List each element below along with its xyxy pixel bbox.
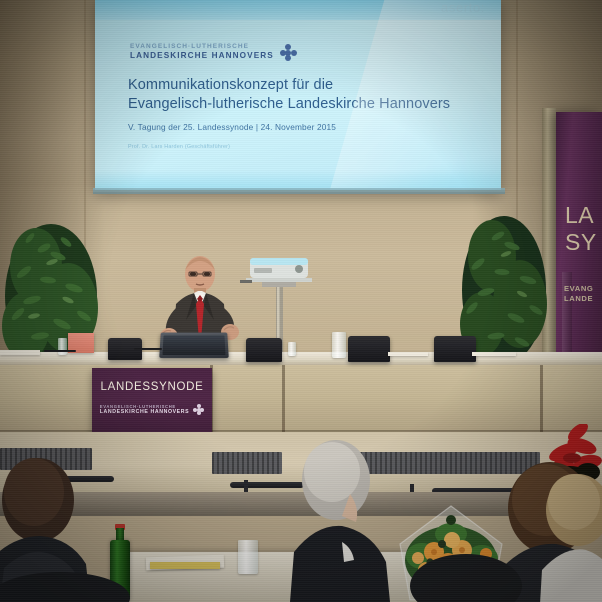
conference-photo-scene: aserto: EVANGELISCH·LUTHERISCHE LANDESKI… [0, 0, 602, 602]
table-microphone-center [134, 348, 162, 350]
papers-far-right [472, 352, 516, 356]
front-water-glass [238, 540, 258, 574]
audience-person-grey-hair [288, 436, 398, 602]
table-microphone-left [44, 350, 76, 352]
slide-logo-line2: LANDESKIRCHE HANNOVERS [130, 52, 274, 60]
banner-title: LA SY [565, 202, 597, 256]
podium-sign: LANDESSYNODE EVANGELISCH·LUTHERISCHE LAN… [92, 368, 212, 440]
banner-sub-line2: LANDE [564, 294, 593, 304]
slide-subtitle: V. Tagung der 25. Landessynode | 24. Nov… [128, 122, 336, 132]
water-glass-mid [288, 342, 296, 356]
banner-title-line2: SY [565, 229, 597, 256]
podium-cross-icon [193, 404, 204, 415]
laptop-screen [162, 335, 225, 355]
slide-church-logo: EVANGELISCH·LUTHERISCHE LANDESKIRCHE HAN… [130, 44, 297, 61]
papers-right [388, 352, 428, 356]
audience-person-far-right [538, 474, 602, 602]
papers-left [0, 350, 40, 355]
projected-slide: aserto: EVANGELISCH·LUTHERISCHE LANDESKI… [95, 0, 501, 190]
chair-3 [348, 336, 390, 362]
front-papers-yellow [150, 562, 220, 569]
presenter-laptop[interactable] [159, 333, 229, 358]
church-cross-icon [280, 44, 297, 61]
podium-title: LANDESSYNODE [92, 381, 212, 393]
water-glass-left [58, 338, 67, 355]
radiator-mid-left [212, 452, 282, 474]
audience-person-bottom-right [404, 544, 534, 602]
podium-church-logo: EVANGELISCH·LUTHERISCHE LANDESKIRCHE HAN… [92, 404, 212, 416]
podium-logo-line2: LANDESKIRCHE HANNOVERS [100, 409, 189, 416]
chair-4 [434, 336, 476, 362]
audience-person-bottom-left [0, 564, 140, 602]
screen-bottom-edge [93, 188, 505, 194]
slide-footnote: Prof. Dr. Lars Harden (Geschäftsführer) [128, 144, 230, 150]
banner-sub-line1: EVANG [564, 284, 593, 294]
projection-screen: aserto: EVANGELISCH·LUTHERISCHE LANDESKI… [95, 0, 501, 190]
chair-2 [246, 338, 282, 362]
water-glass-right [332, 332, 346, 358]
table-seam-2 [282, 365, 285, 437]
stage-table-front [0, 365, 602, 437]
slide-logo-line1: EVANGELISCH·LUTHERISCHE [130, 44, 274, 51]
banner-subtitle: EVANG LANDE [564, 284, 593, 304]
banner-title-line1: LA [565, 202, 597, 229]
